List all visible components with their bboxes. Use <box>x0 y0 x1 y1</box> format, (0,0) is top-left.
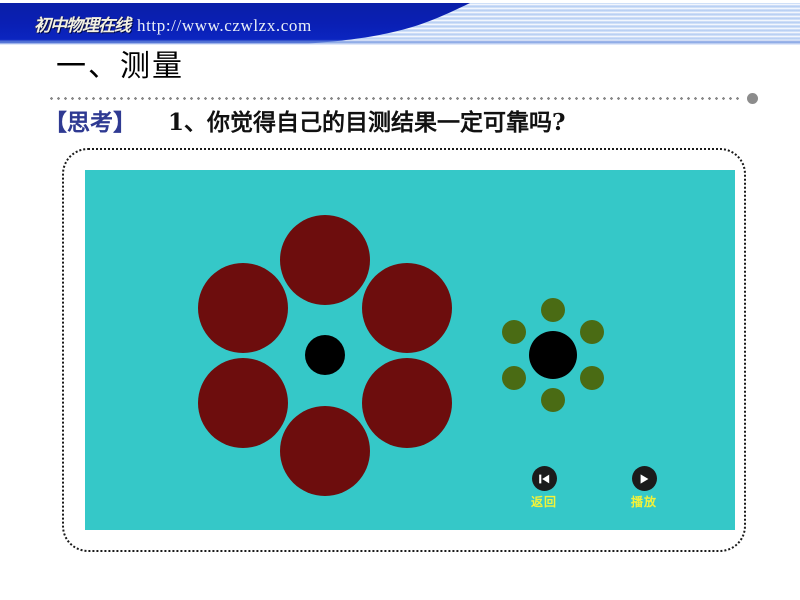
surround-circle <box>541 298 565 322</box>
surround-circle <box>362 263 452 353</box>
site-header-banner: 初中物理在线 http://www.czwlzx.com <box>0 0 800 48</box>
page-title: 一、测量 <box>56 47 184 87</box>
divider-end-dot <box>747 93 758 104</box>
center-circle <box>529 331 577 379</box>
play-button-label: 播放 <box>617 493 671 510</box>
surround-circle <box>502 320 526 344</box>
center-circle <box>305 335 345 375</box>
question-line: 【思考】 1、你觉得自己的目测结果一定可靠吗? <box>44 106 566 140</box>
surround-circle <box>280 215 370 305</box>
skip-back-icon[interactable] <box>532 466 557 491</box>
surround-circle <box>541 388 565 412</box>
surround-circle <box>362 358 452 448</box>
surround-circle <box>198 358 288 448</box>
site-logo-text: 初中物理在线 <box>34 11 130 36</box>
question-text: 1、你觉得自己的目测结果一定可靠吗? <box>168 109 565 136</box>
skip-back-glyph <box>537 472 551 486</box>
back-button-label: 返回 <box>517 493 571 510</box>
title-divider <box>48 93 758 105</box>
divider-dots <box>48 97 742 100</box>
illusion-illustration-panel: 返回 播放 <box>85 170 735 530</box>
site-url-text: http://www.czwlzx.com <box>137 16 312 36</box>
back-button[interactable]: 返回 <box>517 466 571 510</box>
play-button[interactable]: 播放 <box>617 466 671 510</box>
think-tag: 【思考】 <box>44 109 136 136</box>
surround-circle <box>580 366 604 390</box>
surround-circle <box>580 320 604 344</box>
play-glyph <box>637 472 651 486</box>
banner-text: 初中物理在线 http://www.czwlzx.com <box>34 11 312 36</box>
surround-circle <box>502 366 526 390</box>
surround-circle <box>198 263 288 353</box>
play-icon[interactable] <box>632 466 657 491</box>
surround-circle <box>280 406 370 496</box>
